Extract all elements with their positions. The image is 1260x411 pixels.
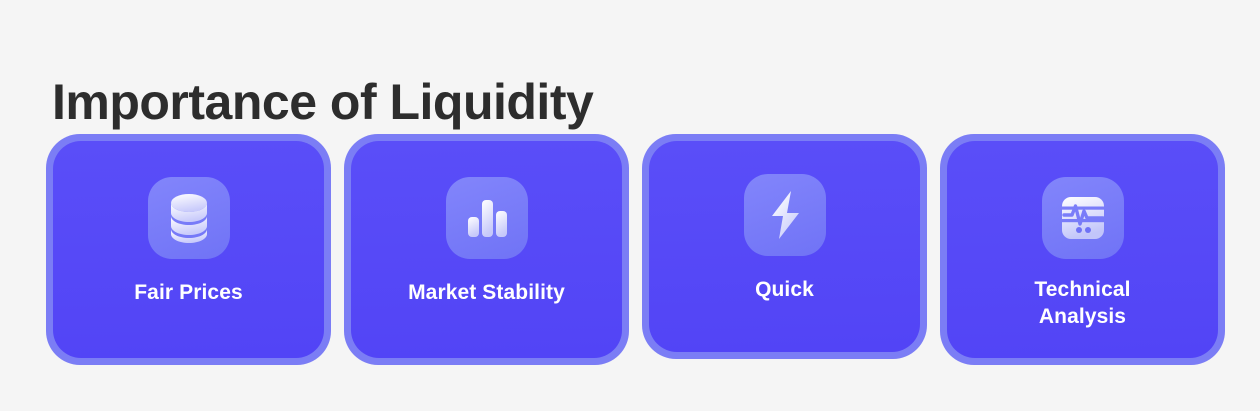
liquidity-infographic: Importance of Liquidity: [0, 0, 1260, 411]
monitor-vitals-icon: [1042, 177, 1124, 259]
cards-row: Fair Prices: [46, 134, 1218, 366]
card-label: Quick: [755, 276, 814, 303]
card-label: Technical Analysis: [1034, 276, 1130, 330]
card-inner: Quick: [649, 141, 920, 352]
database-icon: [148, 177, 230, 259]
card-inner: Market Stability: [351, 141, 622, 358]
page-title: Importance of Liquidity: [52, 72, 593, 132]
card-inner: Technical Analysis: [947, 141, 1218, 358]
card-market-stability[interactable]: Market Stability: [344, 134, 629, 365]
card-technical-analysis[interactable]: Technical Analysis: [940, 134, 1225, 365]
card-label: Market Stability: [408, 279, 565, 306]
card-fair-prices[interactable]: Fair Prices: [46, 134, 331, 365]
card-label: Fair Prices: [134, 279, 243, 306]
card-inner: Fair Prices: [53, 141, 324, 358]
bar-chart-icon: [446, 177, 528, 259]
lightning-bolt-icon: [744, 174, 826, 256]
card-quick[interactable]: Quick: [642, 134, 927, 359]
